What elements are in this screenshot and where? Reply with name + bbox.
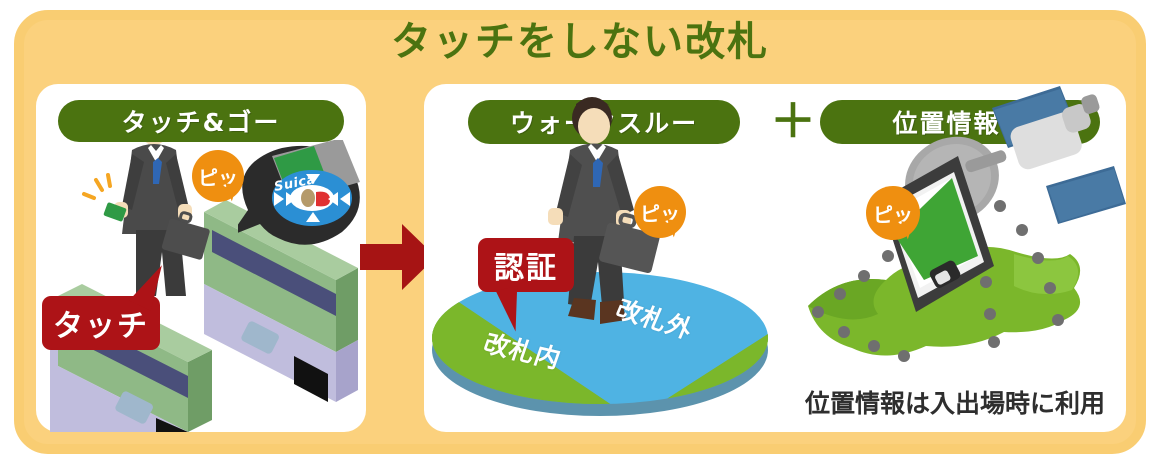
callout-touch-label: タッチ: [53, 301, 149, 345]
location-caption: 位置情報は入出場時に利用: [784, 384, 1126, 420]
pip-bubble-left: ピッ: [192, 150, 244, 202]
scene-location-info: [784, 84, 1126, 432]
satellite-phone-map-illustration: [784, 84, 1126, 432]
callout-auth-label: 認証: [494, 243, 558, 287]
callout-authentication: 認証: [478, 238, 574, 292]
ic-card-reader-callout: [238, 140, 366, 258]
pill-touch-and-go: タッチ&ゴー: [58, 100, 344, 142]
pip-bubble-right: ピッ: [866, 186, 920, 240]
page-title: タッチをしない改札: [0, 22, 1160, 62]
infographic-root: タッチをしない改札: [0, 0, 1160, 468]
pip-bubble-middle: ピッ: [634, 186, 686, 238]
callout-touch: タッチ: [42, 296, 160, 350]
